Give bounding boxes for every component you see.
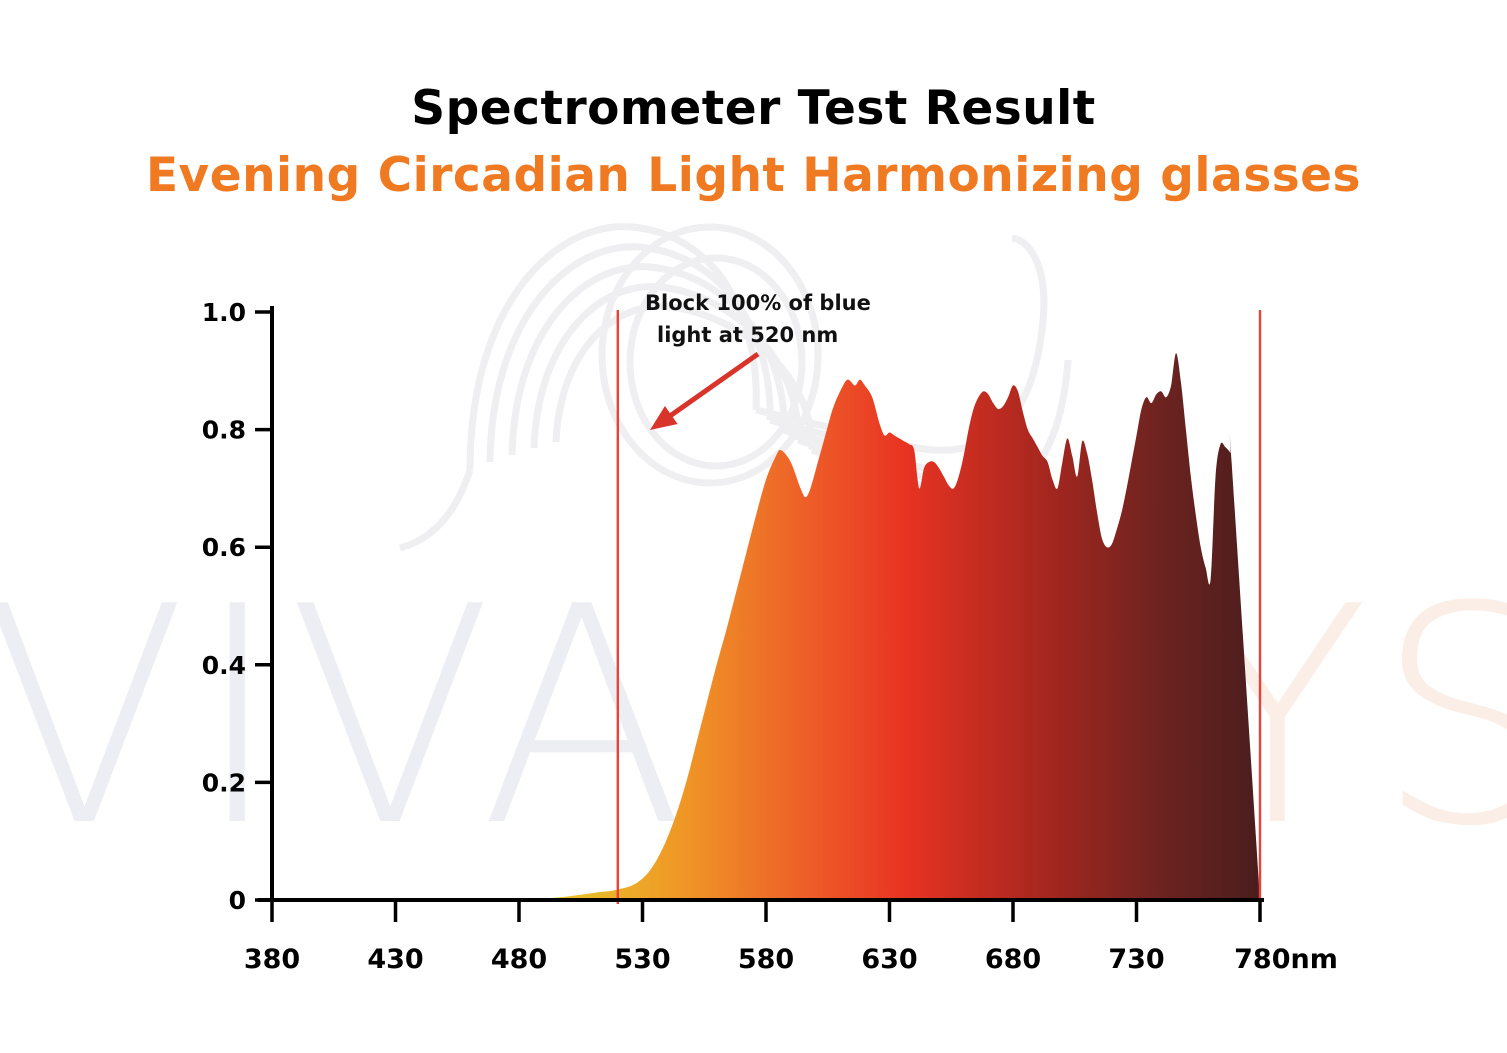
spectrum-area-path [272, 353, 1260, 900]
y-tick-label-0: 0 [229, 886, 246, 915]
annotation-arrow-line [662, 354, 758, 422]
annotation-arrow-head [650, 406, 678, 430]
x-tick-label-2: 480 [491, 944, 547, 975]
y-tick-label-4: 0.8 [202, 416, 246, 445]
x-tick-label-3: 530 [614, 944, 670, 975]
x-tick-label-6: 680 [985, 944, 1041, 975]
x-tick-label-4: 580 [738, 944, 794, 975]
x-tick-label-5: 630 [861, 944, 917, 975]
spectrometer-chart-page: VIVA YS Spectrometer Test Result Evening… [0, 0, 1507, 1053]
x-tick-label-7: 730 [1108, 944, 1164, 975]
spectrum-area-group [272, 353, 1260, 900]
x-tick-label-0: 380 [244, 944, 300, 975]
x-tick-label-1: 430 [367, 944, 423, 975]
y-tick-label-3: 0.6 [202, 533, 246, 562]
annotation-line-2: light at 520 nm [657, 323, 838, 347]
y-tick-label-1: 0.2 [202, 768, 246, 797]
y-tick-label-5: 1.0 [202, 298, 246, 327]
annotation-line-1: Block 100% of blue [645, 291, 871, 315]
x-tick-label-8: 780nm [1234, 944, 1338, 975]
y-tick-label-2: 0.4 [202, 651, 246, 680]
spectral-chart: 00.20.40.60.81.0380430480530580630680730… [0, 0, 1507, 1053]
